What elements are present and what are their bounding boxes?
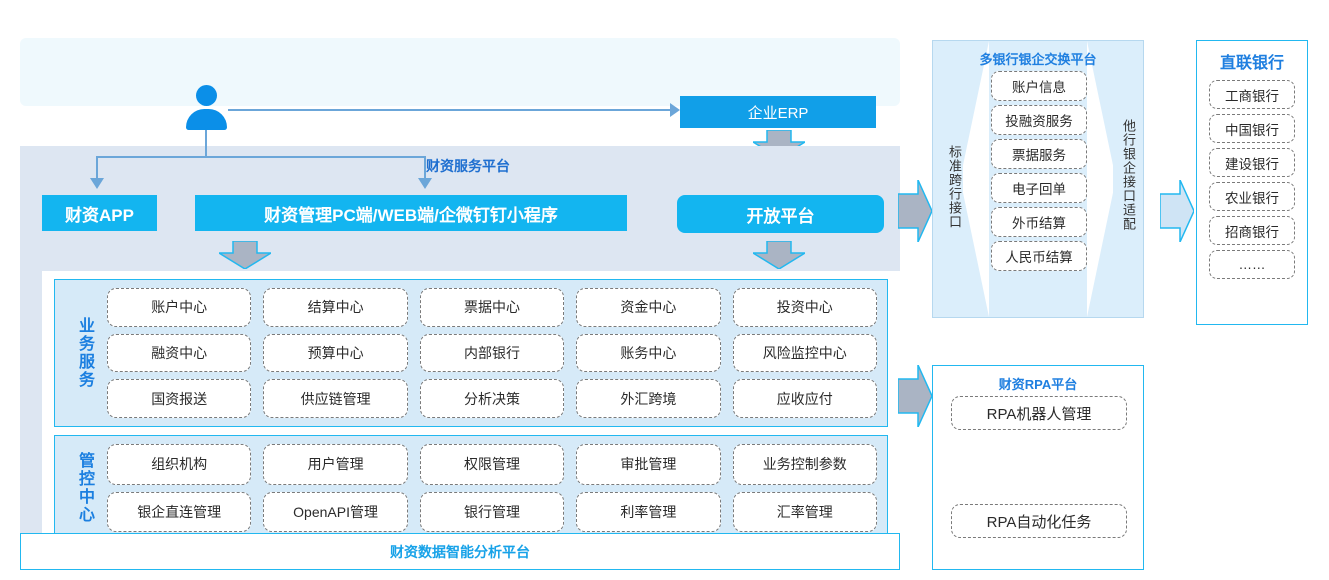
enterprise-erp-box[interactable]: 企业ERP [680, 96, 876, 128]
standard-interface-label: 标准跨行接口 [941, 145, 961, 229]
multi-bank-exchange-panel: 多银行银企交换平台 标准跨行接口 他行银企接口适配 账户信息投融资服务票据服务电… [932, 40, 1144, 318]
exchange-service-cell[interactable]: 投融资服务 [991, 105, 1087, 135]
exchange-service-cell[interactable]: 人民币结算 [991, 241, 1087, 271]
direct-banks-list: 工商银行中国银行建设银行农业银行招商银行…… [1209, 80, 1295, 279]
direct-bank-cell[interactable]: 建设银行 [1209, 148, 1295, 177]
business-service-cell[interactable]: 供应链管理 [263, 379, 407, 418]
funnel-right-shape [1087, 41, 1113, 317]
control-center-grid: 组织机构用户管理权限管理审批管理业务控制参数银企直连管理OpenAPI管理银行管… [107, 444, 877, 532]
business-service-cell[interactable]: 融资中心 [107, 334, 251, 373]
rpa-platform-title: 财资RPA平台 [933, 374, 1143, 393]
data-analysis-platform-bar[interactable]: 财资数据智能分析平台 [20, 533, 900, 570]
bank-interface-adapter-label: 他行银企接口适配 [1115, 119, 1135, 231]
rpa-robot-management-cell[interactable]: RPA机器人管理 [951, 396, 1127, 430]
modules-container: 业务服务 账户中心结算中心票据中心资金中心投资中心融资中心预算中心内部银行账务中… [42, 271, 900, 551]
user-body-shape [186, 109, 227, 130]
business-services-label: 业务服务 [69, 280, 99, 426]
business-service-cell[interactable]: 资金中心 [576, 288, 720, 327]
connector-user-down [205, 130, 207, 157]
control-center-label: 管控中心 [69, 436, 99, 540]
control-center-cell[interactable]: OpenAPI管理 [263, 492, 407, 533]
direct-bank-cell[interactable]: 中国银行 [1209, 114, 1295, 143]
rpa-automation-task-cell[interactable]: RPA自动化任务 [951, 504, 1127, 538]
business-service-cell[interactable]: 分析决策 [420, 379, 564, 418]
rpa-platform-panel: 财资RPA平台 RPA机器人管理 RPA自动化任务 [932, 365, 1144, 570]
business-service-cell[interactable]: 结算中心 [263, 288, 407, 327]
exchange-service-cell[interactable]: 账户信息 [991, 71, 1087, 101]
arrow-right-to-exchange-icon [898, 180, 932, 242]
user-icon [184, 85, 228, 129]
arrowhead-to-app-icon [90, 178, 104, 189]
user-head-shape [196, 85, 217, 106]
exchange-service-cell[interactable]: 外币结算 [991, 207, 1087, 237]
arrowhead-to-pc-icon [418, 178, 432, 189]
business-service-cell[interactable]: 国资报送 [107, 379, 251, 418]
business-service-cell[interactable]: 预算中心 [263, 334, 407, 373]
direct-bank-cell[interactable]: 招商银行 [1209, 216, 1295, 245]
service-platform-area: 企业ERP 财资服务平台 财资APP 财资管理PC端/WEB端/企微钉钉小程序 … [20, 38, 900, 568]
control-center-cell[interactable]: 银行管理 [420, 492, 564, 533]
arrow-right-to-banks-icon [1160, 180, 1194, 242]
arrow-right-to-rpa-icon [898, 365, 932, 427]
arrowhead-user-to-erp-icon [670, 103, 680, 117]
exchange-service-cell[interactable]: 电子回单 [991, 173, 1087, 203]
business-service-cell[interactable]: 风险监控中心 [733, 334, 877, 373]
business-service-cell[interactable]: 投资中心 [733, 288, 877, 327]
arrow-down-right-icon [753, 241, 805, 269]
business-service-cell[interactable]: 账户中心 [107, 288, 251, 327]
business-services-panel: 业务服务 账户中心结算中心票据中心资金中心投资中心融资中心预算中心内部银行账务中… [54, 279, 888, 427]
business-service-cell[interactable]: 内部银行 [420, 334, 564, 373]
service-platform-title: 财资服务平台 [426, 156, 510, 176]
connector-left-branch [96, 156, 98, 180]
channel-button-app[interactable]: 财资APP [42, 195, 157, 231]
control-center-cell[interactable]: 汇率管理 [733, 492, 877, 533]
control-center-cell[interactable]: 权限管理 [420, 444, 564, 485]
connector-horizontal-split [96, 156, 426, 158]
business-services-grid: 账户中心结算中心票据中心资金中心投资中心融资中心预算中心内部银行账务中心风险监控… [107, 288, 877, 418]
channel-button-pc-web[interactable]: 财资管理PC端/WEB端/企微钉钉小程序 [195, 195, 627, 231]
business-service-cell[interactable]: 票据中心 [420, 288, 564, 327]
direct-bank-cell[interactable]: 农业银行 [1209, 182, 1295, 211]
direct-bank-cell[interactable]: …… [1209, 250, 1295, 279]
exchange-service-cell[interactable]: 票据服务 [991, 139, 1087, 169]
exchange-services-list: 账户信息投融资服务票据服务电子回单外币结算人民币结算 [991, 71, 1087, 271]
business-service-cell[interactable]: 账务中心 [576, 334, 720, 373]
arrow-down-left-icon [219, 241, 271, 269]
control-center-cell[interactable]: 组织机构 [107, 444, 251, 485]
control-center-cell[interactable]: 利率管理 [576, 492, 720, 533]
business-service-cell[interactable]: 应收应付 [733, 379, 877, 418]
business-service-cell[interactable]: 外汇跨境 [576, 379, 720, 418]
control-center-cell[interactable]: 审批管理 [576, 444, 720, 485]
control-center-cell[interactable]: 银企直连管理 [107, 492, 251, 533]
direct-banks-panel: 直联银行 工商银行中国银行建设银行农业银行招商银行…… [1196, 40, 1308, 325]
connector-user-to-erp [228, 109, 676, 111]
control-center-cell[interactable]: 用户管理 [263, 444, 407, 485]
exchange-platform-title: 多银行银企交换平台 [933, 49, 1143, 68]
connector-right-branch [424, 156, 426, 180]
control-center-panel: 管控中心 组织机构用户管理权限管理审批管理业务控制参数银企直连管理OpenAPI… [54, 435, 888, 541]
channel-button-open-platform[interactable]: 开放平台 [677, 195, 884, 233]
direct-bank-cell[interactable]: 工商银行 [1209, 80, 1295, 109]
direct-banks-title: 直联银行 [1197, 49, 1307, 73]
control-center-cell[interactable]: 业务控制参数 [733, 444, 877, 485]
funnel-left-shape [963, 41, 989, 317]
